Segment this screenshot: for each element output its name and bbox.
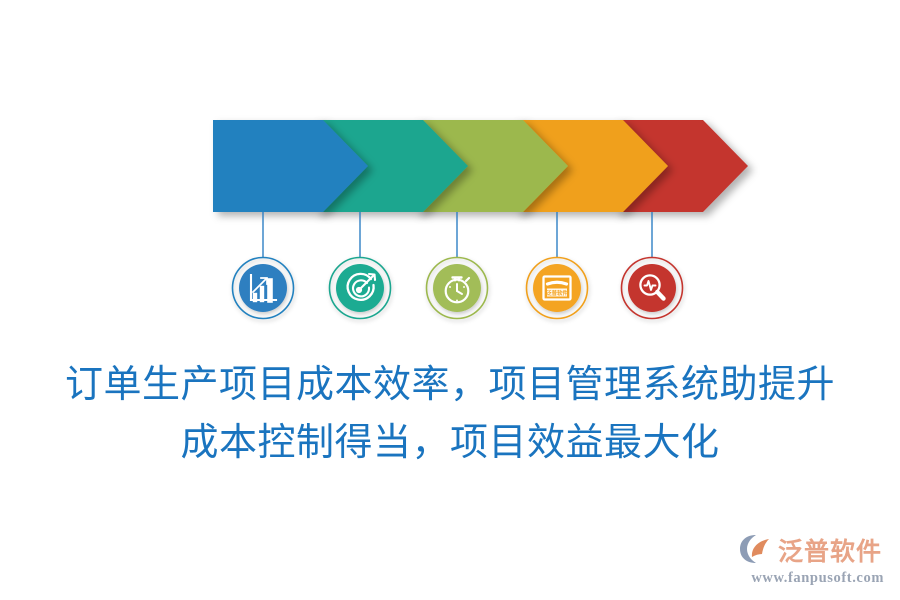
- icon-node-2[interactable]: [330, 258, 391, 319]
- headline-block: 订单生产项目成本效率，项目管理系统助提升 成本控制得当，项目效益最大化: [0, 356, 900, 472]
- watermark-url: www.fanpusoft.com: [738, 570, 886, 587]
- icon-disc-4: [533, 264, 581, 312]
- fanpusoft-logo-icon: [738, 534, 774, 569]
- whiteboard-icon-text: 泛普软件: [546, 289, 568, 297]
- headline-line-1: 订单生产项目成本效率，项目管理系统助提升: [0, 356, 900, 414]
- banner-canvas: 泛普软件 订单生产项目成本效率，项目管理系统助提升 成本控制得当，项目效益最大化: [0, 0, 900, 600]
- icon-node-5[interactable]: [622, 258, 683, 319]
- headline-line-2: 成本控制得当，项目效益最大化: [0, 414, 900, 472]
- icon-node-4[interactable]: 泛普软件: [527, 258, 588, 319]
- icon-node-3[interactable]: [427, 258, 488, 319]
- watermark: 泛普软件 www.fanpusoft.com: [738, 534, 886, 590]
- chevron-process-band: 泛普软件: [0, 0, 900, 340]
- connector-lines: [263, 212, 652, 257]
- chevron-svg: 泛普软件: [0, 0, 900, 340]
- watermark-brand: 泛普软件: [778, 539, 882, 564]
- icon-node-1[interactable]: [233, 258, 294, 319]
